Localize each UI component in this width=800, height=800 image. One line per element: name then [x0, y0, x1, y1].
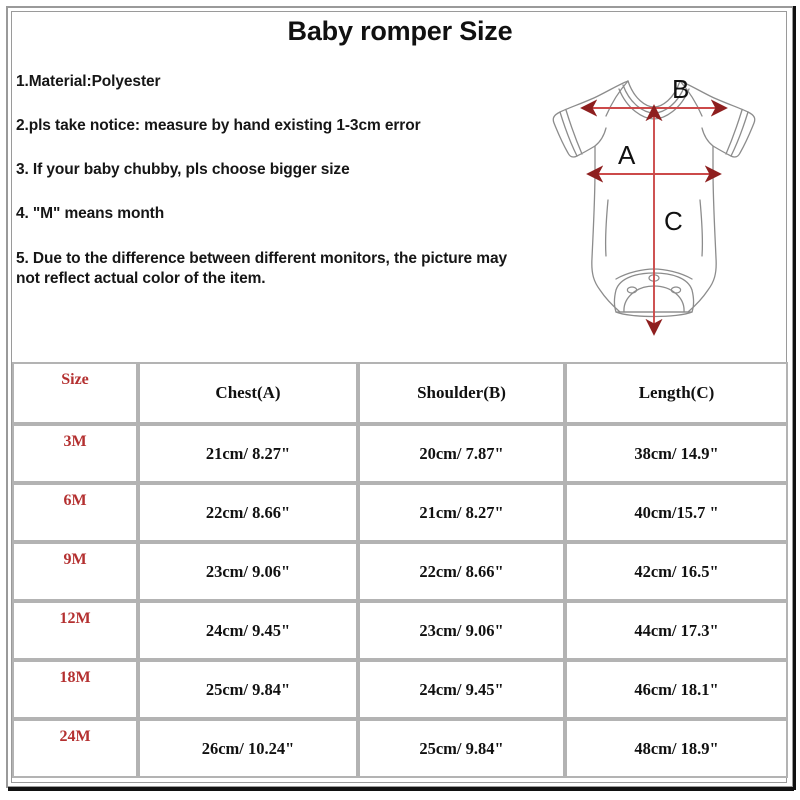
table-row: 18M 25cm/ 9.84" 24cm/ 9.45" 46cm/ 18.1"	[12, 660, 788, 719]
note-item-5: 5. Due to the difference between differe…	[16, 249, 526, 289]
table-row: 6M 22cm/ 8.66" 21cm/ 8.27" 40cm/15.7 "	[12, 483, 788, 542]
header-cell-chest: Chest(A)	[138, 362, 358, 424]
cell-size: 18M	[12, 660, 138, 719]
cell-size: 6M	[12, 483, 138, 542]
header-cell-shoulder: Shoulder(B)	[358, 362, 565, 424]
table-row: 24M 26cm/ 10.24" 25cm/ 9.84" 48cm/ 18.9"	[12, 719, 788, 778]
note-item-2: 2.pls take notice: measure by hand exist…	[16, 116, 526, 136]
cell-shoulder: 21cm/ 8.27"	[358, 483, 565, 542]
notes-list: 1.Material:Polyester 2.pls take notice: …	[16, 72, 526, 289]
cell-length: 40cm/15.7 "	[565, 483, 788, 542]
cell-shoulder: 22cm/ 8.66"	[358, 542, 565, 601]
size-chart-page: Baby romper Size 1.Material:Polyester 2.…	[0, 0, 800, 800]
cell-size: 9M	[12, 542, 138, 601]
cell-chest: 22cm/ 8.66"	[138, 483, 358, 542]
cell-length: 44cm/ 17.3"	[565, 601, 788, 660]
cell-chest: 23cm/ 9.06"	[138, 542, 358, 601]
diagram-label-a: A	[618, 140, 636, 170]
cell-size: 24M	[12, 719, 138, 778]
note-item-4: 4. "M" means month	[16, 204, 526, 224]
note-item-1: 1.Material:Polyester	[16, 72, 526, 92]
cell-chest: 24cm/ 9.45"	[138, 601, 358, 660]
cell-length: 42cm/ 16.5"	[565, 542, 788, 601]
cell-size: 12M	[12, 601, 138, 660]
table-row: 9M 23cm/ 9.06" 22cm/ 8.66" 42cm/ 16.5"	[12, 542, 788, 601]
romper-diagram: B A C	[520, 50, 788, 350]
cell-length: 46cm/ 18.1"	[565, 660, 788, 719]
header-cell-length: Length(C)	[565, 362, 788, 424]
diagram-label-b: B	[672, 74, 689, 104]
cell-chest: 25cm/ 9.84"	[138, 660, 358, 719]
cell-shoulder: 23cm/ 9.06"	[358, 601, 565, 660]
size-table: Size Chest(A) Shoulder(B) Length(C) 3M 2…	[12, 362, 788, 778]
right-edge-shadow	[793, 6, 796, 790]
table-header-row: Size Chest(A) Shoulder(B) Length(C)	[12, 362, 788, 424]
header-cell-size: Size	[12, 362, 138, 424]
cell-length: 48cm/ 18.9"	[565, 719, 788, 778]
cell-chest: 21cm/ 8.27"	[138, 424, 358, 483]
cell-length: 38cm/ 14.9"	[565, 424, 788, 483]
cell-shoulder: 25cm/ 9.84"	[358, 719, 565, 778]
bottom-edge-shadow	[8, 787, 794, 791]
diagram-label-c: C	[664, 206, 683, 236]
cell-chest: 26cm/ 10.24"	[138, 719, 358, 778]
cell-shoulder: 20cm/ 7.87"	[358, 424, 565, 483]
page-title: Baby romper Size	[0, 16, 800, 47]
table-row: 12M 24cm/ 9.45" 23cm/ 9.06" 44cm/ 17.3"	[12, 601, 788, 660]
table-row: 3M 21cm/ 8.27" 20cm/ 7.87" 38cm/ 14.9"	[12, 424, 788, 483]
cell-shoulder: 24cm/ 9.45"	[358, 660, 565, 719]
cell-size: 3M	[12, 424, 138, 483]
note-item-3: 3. If your baby chubby, pls choose bigge…	[16, 160, 526, 180]
